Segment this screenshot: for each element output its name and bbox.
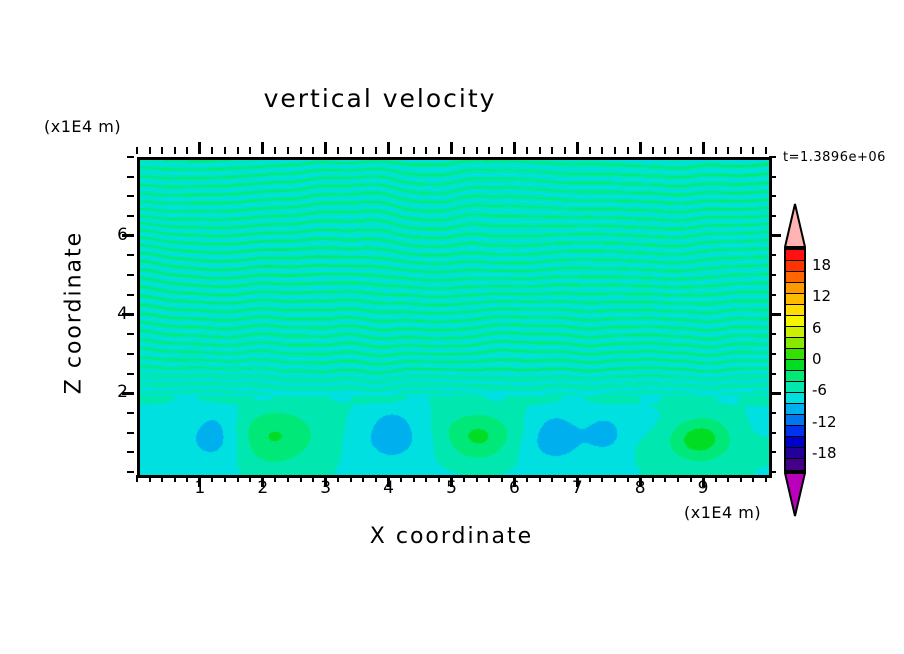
colorbar-segment bbox=[786, 283, 804, 294]
y-minor-tick bbox=[769, 176, 776, 178]
x-minor-tick bbox=[438, 147, 440, 154]
x-minor-tick bbox=[463, 147, 465, 154]
colorbar-segment bbox=[786, 272, 804, 283]
x-minor-tick bbox=[501, 147, 503, 154]
y-minor-tick bbox=[769, 254, 776, 256]
x-major-tick bbox=[576, 142, 579, 154]
y-minor-tick bbox=[127, 254, 134, 256]
y-major-tick bbox=[769, 313, 781, 316]
x-major-tick bbox=[198, 142, 201, 154]
time-annotation: t=1.3896e+06 bbox=[783, 150, 886, 165]
x-tick-label: 2 bbox=[248, 478, 278, 498]
x-minor-tick bbox=[136, 475, 138, 482]
colorbar-segment bbox=[786, 393, 804, 404]
x-minor-tick bbox=[186, 147, 188, 154]
colorbar-segment bbox=[786, 382, 804, 393]
y-minor-tick bbox=[127, 353, 134, 355]
x-minor-tick bbox=[362, 147, 364, 154]
x-minor-tick bbox=[174, 147, 176, 154]
colorbar bbox=[784, 203, 806, 515]
x-minor-tick bbox=[249, 147, 251, 154]
x-minor-tick bbox=[727, 147, 729, 154]
colorbar-segment bbox=[786, 349, 804, 360]
colorbar-segment bbox=[786, 261, 804, 272]
y-minor-tick bbox=[769, 294, 776, 296]
y-minor-tick bbox=[769, 373, 776, 375]
y-axis-title: Z coordinate bbox=[62, 213, 87, 413]
x-minor-tick bbox=[488, 475, 490, 482]
y-axis-unit-label: (x1E4 m) bbox=[44, 117, 121, 136]
colorbar-segment bbox=[786, 448, 804, 459]
colorbar-segments bbox=[784, 248, 806, 472]
y-major-tick bbox=[769, 392, 781, 395]
x-minor-tick bbox=[539, 475, 541, 482]
x-minor-tick bbox=[551, 475, 553, 482]
x-axis-unit-label: (x1E4 m) bbox=[684, 503, 761, 522]
colorbar-tick-label: -6 bbox=[812, 381, 827, 399]
y-minor-tick bbox=[769, 353, 776, 355]
x-minor-tick bbox=[690, 147, 692, 154]
x-minor-tick bbox=[211, 147, 213, 154]
page-title: vertical velocity bbox=[0, 84, 760, 113]
x-minor-tick bbox=[614, 147, 616, 154]
x-minor-tick bbox=[362, 475, 364, 482]
x-minor-tick bbox=[312, 147, 314, 154]
x-minor-tick bbox=[539, 147, 541, 154]
x-minor-tick bbox=[300, 147, 302, 154]
x-minor-tick bbox=[149, 475, 151, 482]
contour-field bbox=[140, 160, 769, 475]
x-minor-tick bbox=[752, 147, 754, 154]
x-minor-tick bbox=[601, 147, 603, 154]
colorbar-tick-label: 12 bbox=[812, 287, 831, 305]
y-minor-tick bbox=[127, 333, 134, 335]
x-minor-tick bbox=[564, 147, 566, 154]
x-minor-tick bbox=[149, 147, 151, 154]
x-minor-tick bbox=[224, 475, 226, 482]
x-major-tick bbox=[639, 142, 642, 154]
y-minor-tick bbox=[769, 215, 776, 217]
y-minor-tick bbox=[769, 432, 776, 434]
colorbar-segment bbox=[786, 426, 804, 437]
x-minor-tick bbox=[476, 475, 478, 482]
y-minor-tick bbox=[127, 274, 134, 276]
x-tick-label: 9 bbox=[688, 478, 718, 498]
x-axis-title: X coordinate bbox=[137, 524, 766, 549]
y-tick-label: 6 bbox=[98, 225, 128, 245]
y-minor-tick bbox=[769, 156, 776, 158]
colorbar-segment bbox=[786, 404, 804, 415]
figure-root: vertical velocity (x1E4 m) t=1.3896e+06 … bbox=[0, 0, 904, 654]
y-minor-tick bbox=[769, 412, 776, 414]
x-tick-label: 1 bbox=[185, 478, 215, 498]
x-minor-tick bbox=[526, 147, 528, 154]
x-minor-tick bbox=[237, 475, 239, 482]
colorbar-segment bbox=[786, 437, 804, 448]
colorbar-over-arrow-icon bbox=[784, 203, 806, 248]
x-minor-tick bbox=[664, 147, 666, 154]
x-minor-tick bbox=[350, 147, 352, 154]
x-major-tick bbox=[450, 142, 453, 154]
x-minor-tick bbox=[413, 475, 415, 482]
x-minor-tick bbox=[287, 475, 289, 482]
y-minor-tick bbox=[127, 432, 134, 434]
x-tick-label: 4 bbox=[374, 478, 404, 498]
x-minor-tick bbox=[551, 147, 553, 154]
colorbar-under-arrow-icon bbox=[784, 472, 806, 517]
x-minor-tick bbox=[287, 147, 289, 154]
y-tick-label: 4 bbox=[98, 304, 128, 324]
y-minor-tick bbox=[127, 471, 134, 473]
y-major-tick bbox=[769, 234, 781, 237]
x-minor-tick bbox=[677, 475, 679, 482]
y-minor-tick bbox=[127, 195, 134, 197]
colorbar-segment bbox=[786, 459, 804, 470]
y-minor-tick bbox=[769, 274, 776, 276]
y-minor-tick bbox=[769, 471, 776, 473]
y-minor-tick bbox=[127, 451, 134, 453]
x-minor-tick bbox=[601, 475, 603, 482]
x-minor-tick bbox=[614, 475, 616, 482]
colorbar-segment bbox=[786, 327, 804, 338]
x-tick-label: 6 bbox=[499, 478, 529, 498]
x-minor-tick bbox=[300, 475, 302, 482]
x-minor-tick bbox=[752, 475, 754, 482]
x-minor-tick bbox=[237, 147, 239, 154]
x-tick-label: 8 bbox=[625, 478, 655, 498]
x-minor-tick bbox=[174, 475, 176, 482]
y-minor-tick bbox=[127, 294, 134, 296]
y-minor-tick bbox=[127, 156, 134, 158]
colorbar-segment bbox=[786, 250, 804, 261]
x-minor-tick bbox=[425, 475, 427, 482]
x-minor-tick bbox=[413, 147, 415, 154]
x-minor-tick bbox=[765, 147, 767, 154]
y-minor-tick bbox=[769, 195, 776, 197]
x-minor-tick bbox=[677, 147, 679, 154]
colorbar-segment bbox=[786, 305, 804, 316]
x-minor-tick bbox=[337, 147, 339, 154]
x-minor-tick bbox=[627, 147, 629, 154]
x-minor-tick bbox=[589, 147, 591, 154]
colorbar-segment bbox=[786, 338, 804, 349]
x-minor-tick bbox=[765, 475, 767, 482]
y-minor-tick bbox=[127, 373, 134, 375]
x-minor-tick bbox=[224, 147, 226, 154]
x-tick-label: 7 bbox=[562, 478, 592, 498]
colorbar-segment bbox=[786, 415, 804, 426]
x-major-tick bbox=[261, 142, 264, 154]
x-tick-label: 3 bbox=[311, 478, 341, 498]
x-minor-tick bbox=[161, 147, 163, 154]
y-minor-tick bbox=[127, 176, 134, 178]
x-minor-tick bbox=[375, 147, 377, 154]
x-minor-tick bbox=[274, 147, 276, 154]
x-major-tick bbox=[324, 142, 327, 154]
colorbar-tick-label: -12 bbox=[812, 413, 837, 431]
x-minor-tick bbox=[476, 147, 478, 154]
x-minor-tick bbox=[161, 475, 163, 482]
x-minor-tick bbox=[652, 147, 654, 154]
x-minor-tick bbox=[425, 147, 427, 154]
y-minor-tick bbox=[127, 412, 134, 414]
y-minor-tick bbox=[769, 451, 776, 453]
colorbar-tick-label: 18 bbox=[812, 256, 831, 274]
x-minor-tick bbox=[664, 475, 666, 482]
x-tick-label: 5 bbox=[437, 478, 467, 498]
colorbar-tick-label: -18 bbox=[812, 444, 837, 462]
colorbar-segment bbox=[786, 371, 804, 382]
colorbar-segment bbox=[786, 316, 804, 327]
y-minor-tick bbox=[769, 333, 776, 335]
x-minor-tick bbox=[727, 475, 729, 482]
x-major-tick bbox=[513, 142, 516, 154]
y-tick-label: 2 bbox=[98, 382, 128, 402]
x-minor-tick bbox=[488, 147, 490, 154]
x-minor-tick bbox=[350, 475, 352, 482]
x-minor-tick bbox=[715, 147, 717, 154]
colorbar-segment bbox=[786, 360, 804, 371]
x-minor-tick bbox=[400, 147, 402, 154]
y-minor-tick bbox=[127, 215, 134, 217]
x-minor-tick bbox=[740, 147, 742, 154]
plot-area bbox=[137, 157, 772, 478]
x-minor-tick bbox=[740, 475, 742, 482]
colorbar-tick-label: 0 bbox=[812, 350, 822, 368]
x-major-tick bbox=[387, 142, 390, 154]
x-major-tick bbox=[702, 142, 705, 154]
colorbar-segment bbox=[786, 294, 804, 305]
x-minor-tick bbox=[136, 147, 138, 154]
colorbar-tick-label: 6 bbox=[812, 319, 822, 337]
